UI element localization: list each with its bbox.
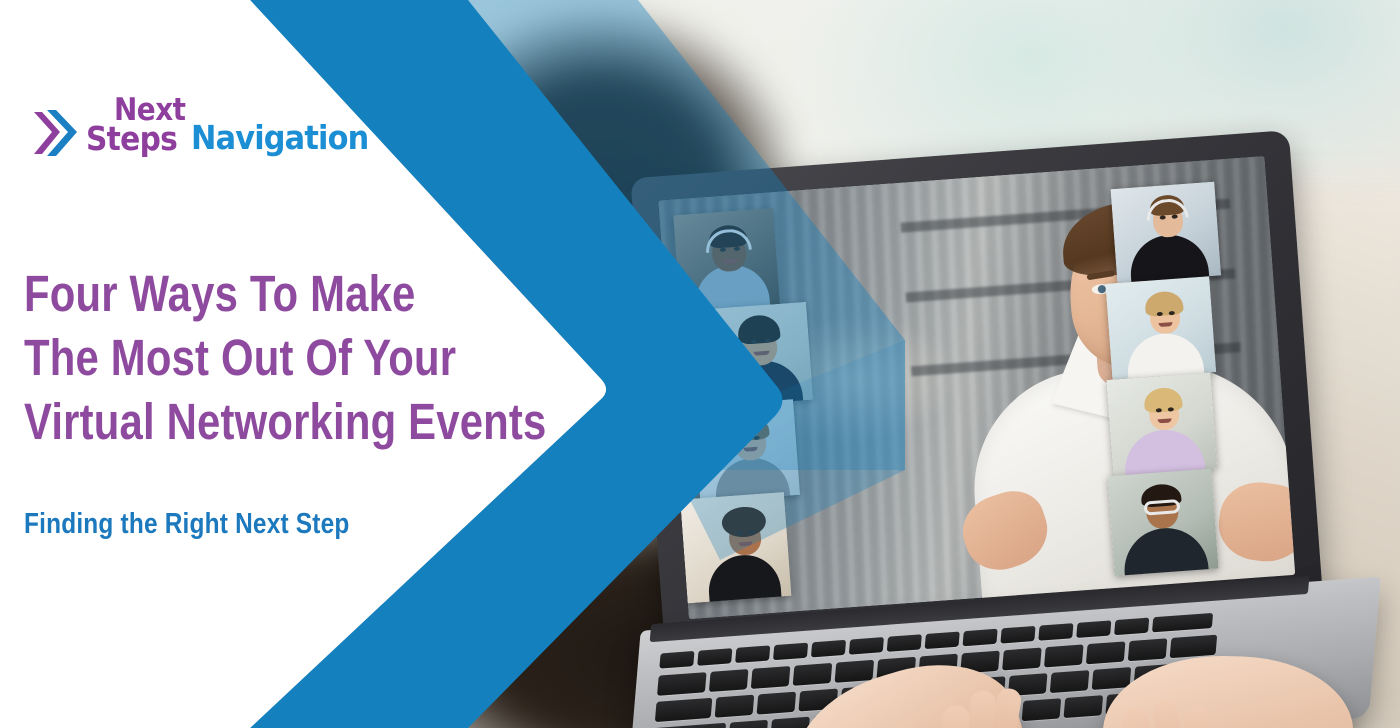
double-chevron-right-icon — [30, 104, 82, 162]
headline-line-2: The Most Out Of Your — [24, 322, 508, 395]
promo-banner: Next Steps Navigation Four Ways To Make … — [0, 0, 1400, 728]
headline: Four Ways To Make The Most Out Of Your V… — [24, 262, 544, 454]
logo[interactable]: Next Steps Navigation — [30, 96, 330, 174]
logo-word-steps: Steps — [86, 122, 177, 155]
subheadline: Finding the Right Next Step — [24, 503, 350, 543]
headline-line-3: Virtual Networking Events — [24, 386, 508, 459]
logo-word-navigation: Navigation — [191, 121, 368, 154]
logo-wordmark: Next Steps Navigation — [86, 96, 336, 174]
headline-line-1: Four Ways To Make — [24, 258, 508, 331]
